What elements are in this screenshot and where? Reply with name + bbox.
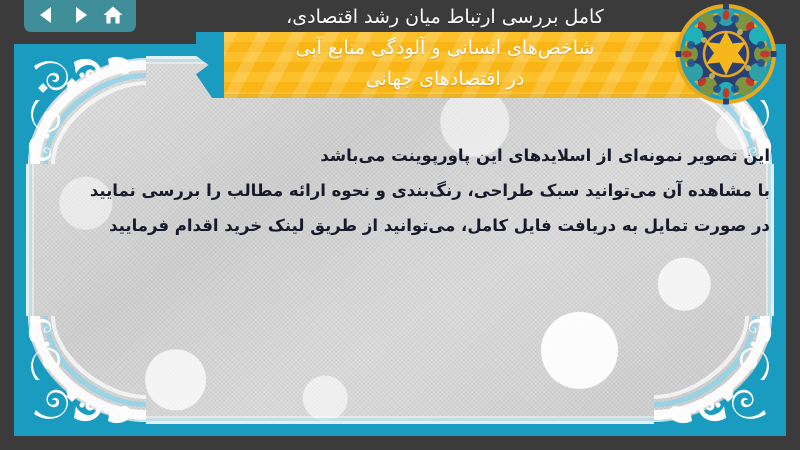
arabesque-corner-bottom-left-icon <box>14 316 146 436</box>
body-line-1: این تصویر نمونه‌ای از اسلایدهای این پاور… <box>40 138 770 173</box>
body-line-3: در صورت تمایل به دریافت فایل کامل، می‌تو… <box>40 208 770 243</box>
next-triangle-icon <box>70 5 90 25</box>
ribbon-band <box>224 32 716 98</box>
title-line-1: کامل بررسی ارتباط میان رشد اقتصادی، <box>200 2 690 33</box>
slide-body-text: این تصویر نمونه‌ای از اسلایدهای این پاور… <box>40 138 770 243</box>
arabesque-corner-bottom-right-icon <box>654 316 786 436</box>
slide-canvas: کامل بررسی ارتباط میان رشد اقتصادی، شاخص… <box>0 0 800 450</box>
navigation-bar <box>24 0 136 32</box>
title-ribbon <box>196 32 716 98</box>
home-button[interactable] <box>100 4 126 26</box>
previous-triangle-icon <box>37 5 57 25</box>
body-line-2: با مشاهده آن می‌توانید سبک طراحی، رنگ‌بن… <box>40 173 770 208</box>
next-slide-button[interactable] <box>67 4 93 26</box>
prev-slide-button[interactable] <box>34 4 60 26</box>
home-icon <box>102 5 124 25</box>
islamic-medallion-icon <box>674 2 778 106</box>
